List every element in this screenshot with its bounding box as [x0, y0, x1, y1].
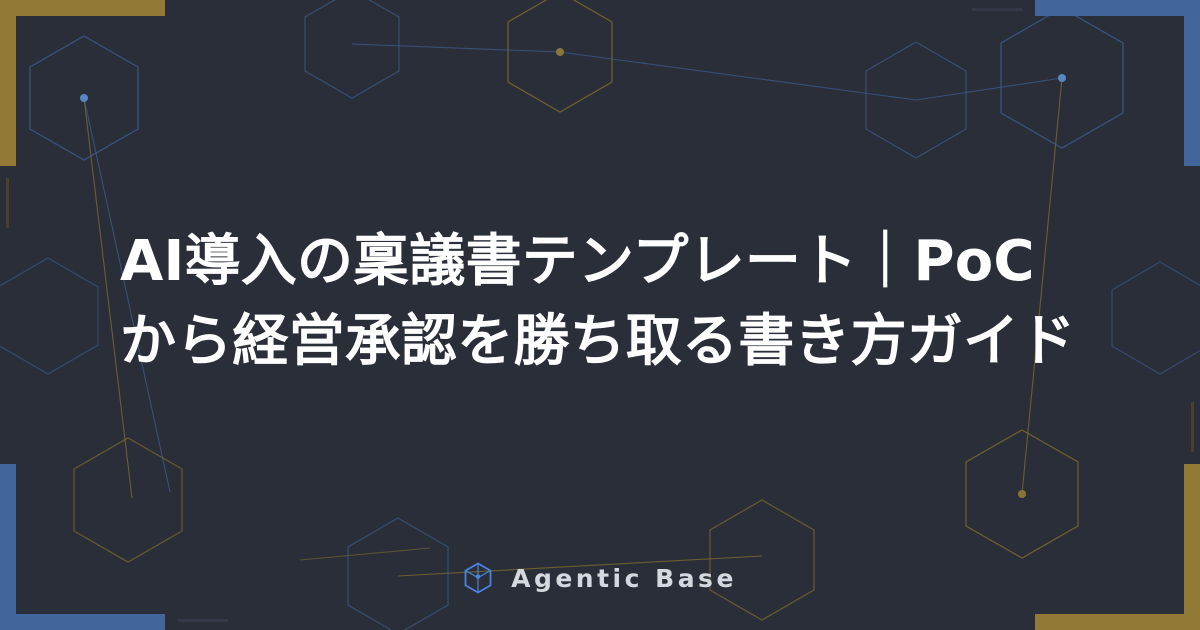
title-block: AI導入の稟議書テンプレート｜PoCから経営承認を勝ち取る書き方ガイド [120, 222, 1080, 381]
page-title-line-2: ら経営承認を勝ち取る書き方ガイド [176, 309, 1075, 374]
card-content: AI導入の稟議書テンプレート｜PoCから経営承認を勝ち取る書き方ガイド [0, 0, 1200, 630]
page-title: AI導入の稟議書テンプレート｜PoCから経営承認を勝ち取る書き方ガイド [120, 222, 1080, 381]
og-card: AI導入の稟議書テンプレート｜PoCから経営承認を勝ち取る書き方ガイド Agen… [0, 0, 1200, 630]
hexagon-cube-icon [463, 562, 493, 594]
brand-name: Agentic Base [511, 564, 737, 593]
brand-footer: Agentic Base [0, 562, 1200, 594]
